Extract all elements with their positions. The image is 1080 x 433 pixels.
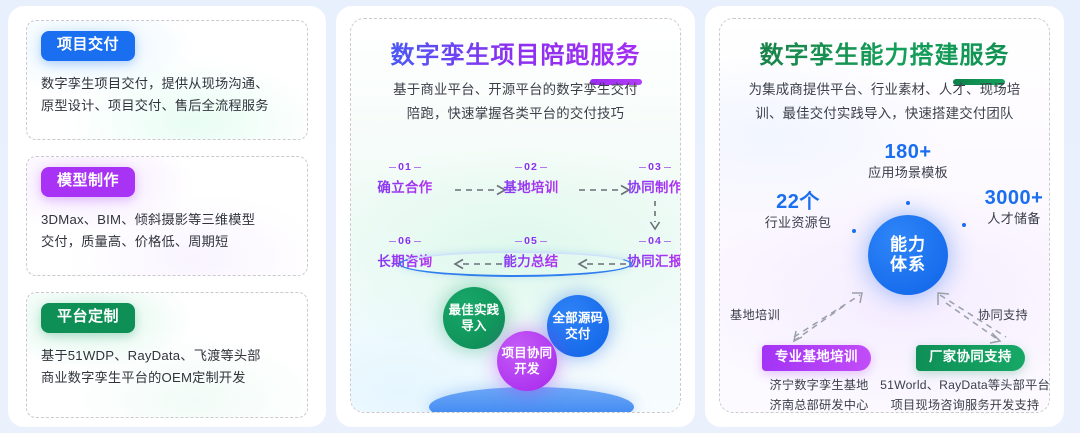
service-card-delivery: 项目交付 数字孪生项目交付，提供从现场沟通、 原型设计、项目交付、售后全流程服务… bbox=[8, 6, 326, 427]
flow-step-01[interactable]: 01 确立合作 bbox=[363, 157, 447, 196]
desc-line: 基于商业平台、开源平台的数字孪生交付 bbox=[377, 78, 654, 102]
left-block-project-delivery[interactable]: 项目交付 数字孪生项目交付，提供从现场沟通、 原型设计、项目交付、售后全流程服务 bbox=[26, 20, 308, 140]
bubble-text: 全部源码 交付 bbox=[553, 310, 604, 342]
bubble-collaborative-dev[interactable]: 项目协同 开发 bbox=[497, 331, 557, 391]
step-number: 06 bbox=[389, 235, 421, 247]
service-card-accompany: 数字孪生项目陪跑服务 基于商业平台、开源平台的数字孪生交付 陪跑，快速掌握各类平… bbox=[336, 6, 695, 427]
desc-platform-customization: 基于51WDP、RayData、飞渡等头部 商业数字孪生平台的OEM定制开发 bbox=[41, 345, 293, 389]
badge-model-production[interactable]: 模型制作 bbox=[41, 167, 135, 197]
caption-base-training: 济宁数字孪生基地 济南总部研发中心 bbox=[744, 375, 894, 413]
bubble-best-practice[interactable]: 最佳实践 导入 bbox=[443, 287, 505, 349]
stat-talent-pool: 3000+ 人才储备 bbox=[958, 187, 1050, 228]
flow-step-03[interactable]: 03 协同制作 bbox=[613, 157, 681, 196]
desc-line: 数字孪生项目交付，提供从现场沟通、 bbox=[41, 73, 293, 95]
step-label: 确立合作 bbox=[363, 176, 447, 196]
mid-panel-title: 数字孪生项目陪跑服务 bbox=[351, 35, 680, 70]
step-number: 04 bbox=[639, 235, 671, 247]
badge-professional-base-training[interactable]: 专业基地培训 bbox=[762, 345, 871, 371]
core-capability-circle[interactable]: 能力 体系 bbox=[868, 215, 948, 295]
connector-dot-icon bbox=[906, 201, 910, 205]
step-label: 协同制作 bbox=[613, 176, 681, 196]
page-root: 项目交付 数字孪生项目交付，提供从现场沟通、 原型设计、项目交付、售后全流程服务… bbox=[0, 0, 1080, 433]
desc-line: 原型设计、项目交付、售后全流程服务 bbox=[41, 95, 293, 117]
bubble-full-source-code[interactable]: 全部源码 交付 bbox=[547, 295, 609, 357]
stat-value: 22个 bbox=[738, 191, 858, 214]
desc-line: 训、最佳交付实践导入，快速搭建交付团队 bbox=[738, 102, 1031, 126]
desc-project-delivery: 数字孪生项目交付，提供从现场沟通、 原型设计、项目交付、售后全流程服务 bbox=[41, 73, 293, 117]
left-block-platform-customization[interactable]: 平台定制 基于51WDP、RayData、飞渡等头部 商业数字孪生平台的OEM定… bbox=[26, 292, 308, 418]
desc-line: 3DMax、BIM、倾斜摄影等三维模型 bbox=[41, 209, 293, 231]
step-number: 02 bbox=[515, 161, 547, 173]
stat-value: 180+ bbox=[828, 141, 988, 164]
orbit-ring-decoration bbox=[399, 251, 632, 277]
step-number: 01 bbox=[389, 161, 421, 173]
right-panel-description: 为集成商提供平台、行业素材、人才、现场培 训、最佳交付实践导入，快速搭建交付团队 bbox=[738, 78, 1031, 126]
desc-model-production: 3DMax、BIM、倾斜摄影等三维模型 交付，质量高、价格低、周期短 bbox=[41, 209, 293, 253]
caption-vendor-support: 51World、RayData等头部平台 项目现场咨询服务开发支持 bbox=[876, 375, 1050, 413]
caption-line: 济宁数字孪生基地 bbox=[744, 375, 894, 395]
connector-dot-icon bbox=[962, 223, 966, 227]
desc-line: 基于51WDP、RayData、飞渡等头部 bbox=[41, 345, 293, 367]
mid-panel-description: 基于商业平台、开源平台的数字孪生交付 陪跑，快速掌握各类平台的交付技巧 bbox=[377, 78, 654, 126]
flow-label-base-training: 基地培训 bbox=[730, 305, 780, 323]
stat-label: 应用场景模板 bbox=[828, 164, 988, 182]
caption-line: 项目现场咨询服务开发支持 bbox=[876, 395, 1050, 413]
caption-line: 51World、RayData等头部平台 bbox=[876, 375, 1050, 395]
bubble-text: 最佳实践 导入 bbox=[449, 302, 500, 334]
left-block-model-production[interactable]: 模型制作 3DMax、BIM、倾斜摄影等三维模型 交付，质量高、价格低、周期短 bbox=[26, 156, 308, 276]
mid-panel-frame: 数字孪生项目陪跑服务 基于商业平台、开源平台的数字孪生交付 陪跑，快速掌握各类平… bbox=[350, 18, 681, 413]
flow-step-02[interactable]: 02 基地培训 bbox=[489, 157, 573, 196]
badge-vendor-support[interactable]: 厂家协同支持 bbox=[916, 345, 1025, 371]
right-panel-title: 数字孪生能力搭建服务 bbox=[720, 35, 1049, 70]
stat-value: 3000+ bbox=[958, 187, 1050, 210]
badge-project-delivery[interactable]: 项目交付 bbox=[41, 31, 135, 61]
stat-industry-packages: 22个 行业资源包 bbox=[738, 191, 858, 232]
right-panel-frame: 数字孪生能力搭建服务 为集成商提供平台、行业素材、人才、现场培 训、最佳交付实践… bbox=[719, 18, 1050, 413]
desc-line: 为集成商提供平台、行业素材、人才、现场培 bbox=[738, 78, 1031, 102]
stat-label: 行业资源包 bbox=[738, 214, 858, 232]
flow-label-collaborative-support: 协同支持 bbox=[978, 305, 1028, 323]
arrow-bidirectional-left-icon bbox=[780, 287, 880, 347]
desc-line: 陪跑，快速掌握各类平台的交付技巧 bbox=[377, 102, 654, 126]
service-card-capability: 数字孪生能力搭建服务 为集成商提供平台、行业素材、人才、现场培 训、最佳交付实践… bbox=[705, 6, 1064, 427]
step-number: 05 bbox=[515, 235, 547, 247]
caption-line: 济南总部研发中心 bbox=[744, 395, 894, 413]
core-text: 能力 体系 bbox=[890, 235, 926, 275]
step-number: 03 bbox=[639, 161, 671, 173]
stat-scene-templates: 180+ 应用场景模板 bbox=[828, 141, 988, 182]
bubble-text: 项目协同 开发 bbox=[502, 345, 553, 377]
connector-dot-icon bbox=[852, 229, 856, 233]
flow-row-top: 01 确立合作 02 基地培训 bbox=[351, 157, 680, 201]
stat-label: 人才储备 bbox=[958, 210, 1050, 228]
step-label: 基地培训 bbox=[489, 176, 573, 196]
desc-line: 交付，质量高、价格低、周期短 bbox=[41, 231, 293, 253]
arrow-down-icon bbox=[648, 201, 662, 231]
desc-line: 商业数字孪生平台的OEM定制开发 bbox=[41, 367, 293, 389]
badge-platform-customization[interactable]: 平台定制 bbox=[41, 303, 135, 333]
